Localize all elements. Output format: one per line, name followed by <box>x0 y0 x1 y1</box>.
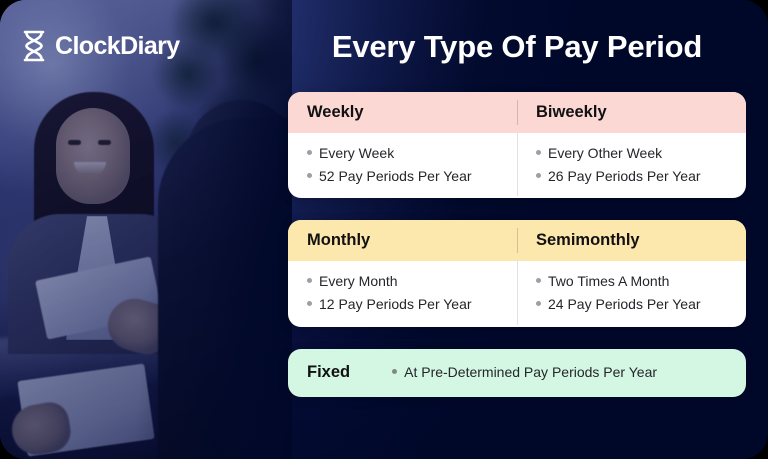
list-item: Two Times A Month <box>536 270 736 293</box>
list-item-label: At Pre-Determined Pay Periods Per Year <box>404 361 657 384</box>
column-title-weekly: Weekly <box>288 92 517 133</box>
column-title-semimonthly: Semimonthly <box>517 220 746 261</box>
bullet-dot-icon <box>307 173 312 178</box>
column-title-biweekly: Biweekly <box>517 92 746 133</box>
bullet-dot-icon <box>536 301 541 306</box>
column-body-monthly: Every Month 12 Pay Periods Per Year <box>288 261 517 326</box>
page-title: Every Type Of Pay Period <box>288 29 746 65</box>
bullet-dot-icon <box>307 301 312 306</box>
pay-period-card-list: Weekly Biweekly Every Week 52 Pay Period… <box>288 92 746 397</box>
list-item-label: 52 Pay Periods Per Year <box>319 165 472 188</box>
bullet-dot-icon <box>307 150 312 155</box>
list-item: Every Month <box>307 270 507 293</box>
card-body-row: Every Week 52 Pay Periods Per Year Every… <box>288 133 746 198</box>
list-item-label: 12 Pay Periods Per Year <box>319 293 472 316</box>
bullet-dot-icon <box>392 369 397 374</box>
card-monthly-semimonthly: Monthly Semimonthly Every Month 12 Pay P… <box>288 220 746 326</box>
card-header-row: Monthly Semimonthly <box>288 220 746 261</box>
list-item-label: Every Other Week <box>548 142 662 165</box>
card-header-row: Weekly Biweekly <box>288 92 746 133</box>
column-title-fixed: Fixed <box>307 363 350 382</box>
card-body-row: Every Month 12 Pay Periods Per Year Two … <box>288 261 746 326</box>
list-item-label: 24 Pay Periods Per Year <box>548 293 701 316</box>
bullet-dot-icon <box>536 278 541 283</box>
bullet-dot-icon <box>536 173 541 178</box>
list-item: 24 Pay Periods Per Year <box>536 293 736 316</box>
list-item-label: Two Times A Month <box>548 270 669 293</box>
brand-name: ClockDiary <box>55 34 180 59</box>
card-weekly-biweekly: Weekly Biweekly Every Week 52 Pay Period… <box>288 92 746 198</box>
column-body-semimonthly: Two Times A Month 24 Pay Periods Per Yea… <box>517 261 746 326</box>
list-item-label: Every Month <box>319 270 398 293</box>
column-title-monthly: Monthly <box>288 220 517 261</box>
infographic-canvas: ClockDiary Every Type Of Pay Period Week… <box>0 0 768 459</box>
list-item: 52 Pay Periods Per Year <box>307 165 507 188</box>
list-item: Every Week <box>307 142 507 165</box>
column-body-weekly: Every Week 52 Pay Periods Per Year <box>288 133 517 198</box>
list-item: 12 Pay Periods Per Year <box>307 293 507 316</box>
hourglass-icon <box>20 30 48 62</box>
bullet-dot-icon <box>536 150 541 155</box>
card-fixed: Fixed At Pre-Determined Pay Periods Per … <box>288 349 746 397</box>
list-item: 26 Pay Periods Per Year <box>536 165 736 188</box>
bullet-dot-icon <box>307 278 312 283</box>
list-item-label: Every Week <box>319 142 394 165</box>
list-item: At Pre-Determined Pay Periods Per Year <box>392 361 657 384</box>
brand-logo[interactable]: ClockDiary <box>20 30 180 62</box>
list-item-label: 26 Pay Periods Per Year <box>548 165 701 188</box>
column-body-biweekly: Every Other Week 26 Pay Periods Per Year <box>517 133 746 198</box>
list-item: Every Other Week <box>536 142 736 165</box>
